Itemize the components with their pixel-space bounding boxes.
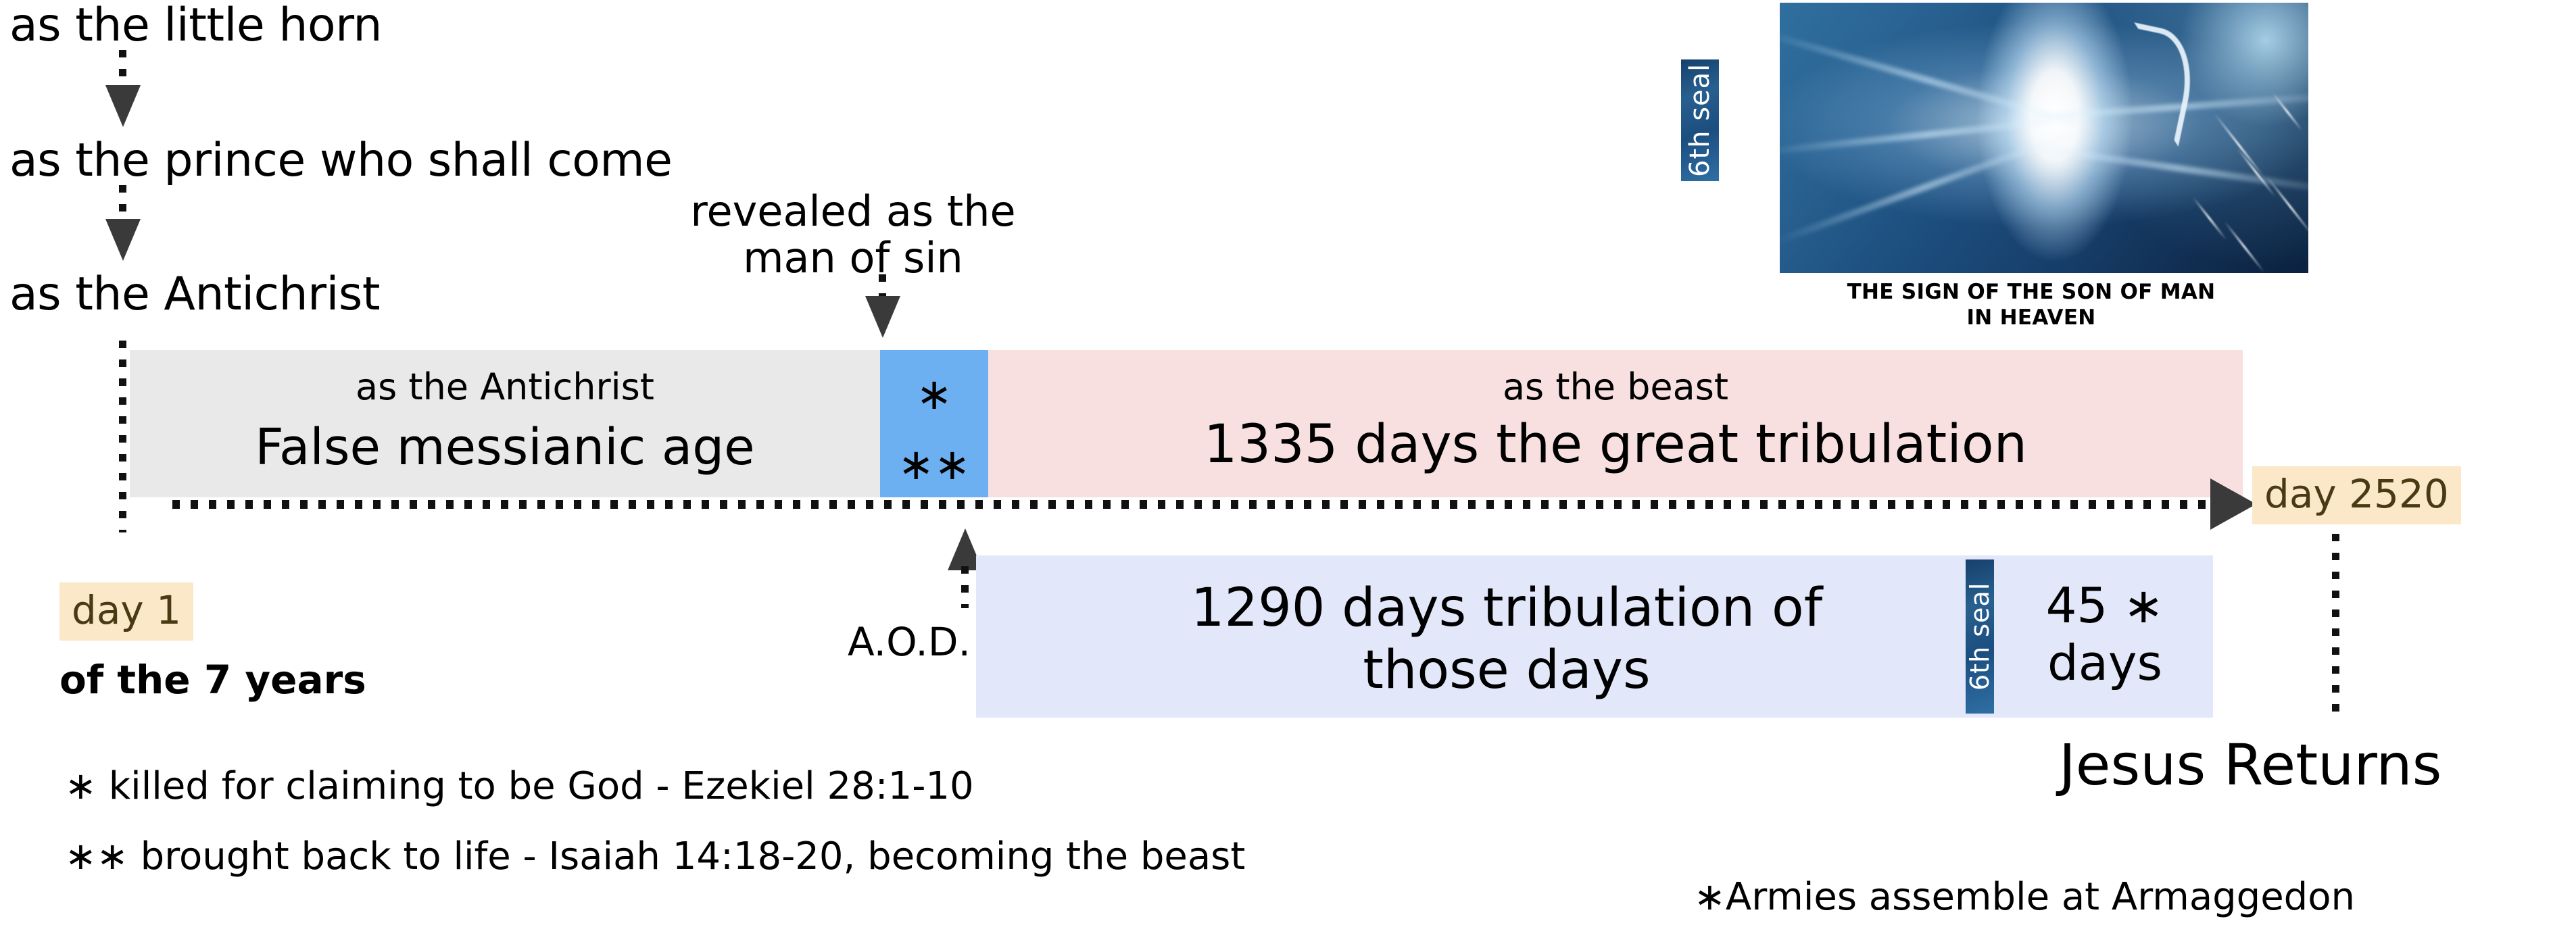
bar-pink-main: 1335 days the great tribulation <box>988 418 2243 473</box>
picture-caption-line1: THE SIGN OF THE SON OF MAN <box>1764 280 2298 305</box>
bar-lav-main-line1: 1290 days tribulation of <box>1003 577 2010 639</box>
callout-man-of-sin-line1: revealed as the <box>677 188 1029 234</box>
arrow-line-2 <box>119 185 126 223</box>
bar-false-messianic-age: as the Antichrist False messianic age <box>130 350 880 497</box>
picture-caption-line2: IN HEAVEN <box>1764 305 2298 331</box>
callout-man-of-sin: revealed as the man of sin <box>677 188 1029 282</box>
footnote-double-asterisk: ∗∗ brought back to life - Isaiah 14:18-2… <box>65 838 1245 876</box>
title-little-horn: as the little horn <box>9 3 382 49</box>
arrowhead-down-2 <box>105 219 141 261</box>
bar-death-resurrection-marker: ∗ ∗∗ <box>880 350 988 497</box>
jesus-returns-label: Jesus Returns <box>2059 737 2441 793</box>
callout-man-of-sin-line2: man of sin <box>677 234 1029 281</box>
sixth-seal-label-top: 6th seal <box>1681 59 1719 181</box>
arrowhead-down-man-of-sin <box>865 296 900 338</box>
footnote-single-asterisk: ∗ killed for claiming to be God - Ezekie… <box>65 768 974 805</box>
bar-lav-tail: 45 ∗ days <box>2003 577 2206 692</box>
bar-lav-tail-line2: days <box>2003 634 2206 692</box>
aod-setup-line <box>961 566 969 608</box>
title-antichrist: as the Antichrist <box>9 272 380 318</box>
jesus-returns-vertical-line <box>2332 534 2339 718</box>
day-2520-chip: day 2520 <box>2252 466 2461 524</box>
timeline-arrowhead-right <box>2210 478 2256 530</box>
arrow-line-1 <box>119 50 126 89</box>
bar-lav-main-line2: those days <box>1003 639 2010 701</box>
picture-caption: THE SIGN OF THE SON OF MAN IN HEAVEN <box>1764 280 2298 331</box>
bar-pink-caption: as the beast <box>988 369 2243 405</box>
day-1-chip: day 1 <box>59 582 193 641</box>
sign-of-son-of-man-image <box>1780 3 2308 273</box>
bar-great-tribulation: as the beast 1335 days the great tribula… <box>988 350 2243 497</box>
bar-1290-days-tribulation: 1290 days tribulation of those days 6th … <box>976 555 2213 718</box>
timeline-start-vertical-line <box>119 341 126 532</box>
asterisk-double: ∗∗ <box>880 443 988 487</box>
footnote-armaggedon: ∗Armies assemble at Armaggedon <box>1694 878 2355 916</box>
timeline-horizontal-line <box>172 500 2220 509</box>
arrowhead-down-1 <box>105 85 141 127</box>
asterisk-single: ∗ <box>880 373 988 416</box>
title-prince-who-shall-come: as the prince who shall come <box>9 138 672 184</box>
day-1-subtitle: of the 7 years <box>59 657 366 703</box>
bar-lav-tail-line1: 45 ∗ <box>2003 577 2206 634</box>
bar-lav-main: 1290 days tribulation of those days <box>1003 577 2010 701</box>
bar-grey-caption: as the Antichrist <box>130 369 880 405</box>
sixth-seal-label-lower: 6th seal <box>1966 559 1994 714</box>
bar-grey-main: False messianic age <box>130 422 880 474</box>
